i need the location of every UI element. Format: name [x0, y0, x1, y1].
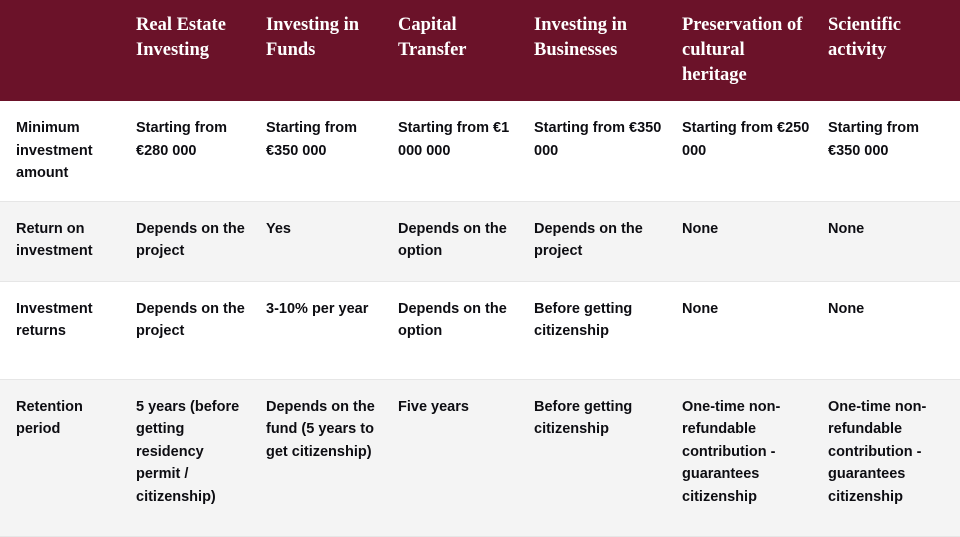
table-cell: Yes: [266, 201, 398, 281]
column-header-preservation-of-cultural-heritage: Preservation of cultural heritage: [682, 0, 828, 101]
column-header-blank: [0, 0, 136, 101]
table-cell: Depends on the project: [534, 201, 682, 281]
table-cell: Starting from €280 000: [136, 101, 266, 201]
table-header-row: Real Estate Investing Investing in Funds…: [0, 0, 960, 101]
table-row: Retention period 5 years (before getting…: [0, 379, 960, 536]
table-cell: Depends on the project: [136, 281, 266, 379]
table-cell: Starting from €1 000 000: [398, 101, 534, 201]
table-cell: Five years: [398, 379, 534, 536]
table-cell: One-time non-refundable contribution - g…: [682, 379, 828, 536]
table-cell: One-time non-refundable contribution - g…: [828, 379, 960, 536]
table-cell: Before getting citizenship: [534, 281, 682, 379]
row-label-retention-period: Retention period: [0, 379, 136, 536]
table-cell: Starting from €350 000: [266, 101, 398, 201]
table-cell: Depends on the option: [398, 281, 534, 379]
column-header-scientific-activity: Scientific activity: [828, 0, 960, 101]
column-header-investing-in-funds: Investing in Funds: [266, 0, 398, 101]
table-cell: Depends on the option: [398, 201, 534, 281]
table-row: Investment returns Depends on the projec…: [0, 281, 960, 379]
row-label-return-on-investment: Return on investment: [0, 201, 136, 281]
column-header-real-estate-investing: Real Estate Investing: [136, 0, 266, 101]
table-cell: None: [828, 201, 960, 281]
table-cell: None: [828, 281, 960, 379]
table-row: Minimum investment amount Starting from …: [0, 101, 960, 201]
table-cell: 3-10% per year: [266, 281, 398, 379]
table-cell: Depends on the project: [136, 201, 266, 281]
table-cell: 5 years (before getting residency permit…: [136, 379, 266, 536]
investment-comparison-table: Real Estate Investing Investing in Funds…: [0, 0, 960, 537]
table-cell: Starting from €350 000: [534, 101, 682, 201]
table-cell: Before getting citizenship: [534, 379, 682, 536]
column-header-investing-in-businesses: Investing in Businesses: [534, 0, 682, 101]
table-cell: Starting from €250 000: [682, 101, 828, 201]
row-label-investment-returns: Investment returns: [0, 281, 136, 379]
row-label-minimum-investment-amount: Minimum investment amount: [0, 101, 136, 201]
table-cell: Depends on the fund (5 years to get citi…: [266, 379, 398, 536]
column-header-capital-transfer: Capital Transfer: [398, 0, 534, 101]
table-cell: Starting from €350 000: [828, 101, 960, 201]
table-body: Minimum investment amount Starting from …: [0, 101, 960, 536]
table-row: Return on investment Depends on the proj…: [0, 201, 960, 281]
table-cell: None: [682, 281, 828, 379]
table-header: Real Estate Investing Investing in Funds…: [0, 0, 960, 101]
table-cell: None: [682, 201, 828, 281]
